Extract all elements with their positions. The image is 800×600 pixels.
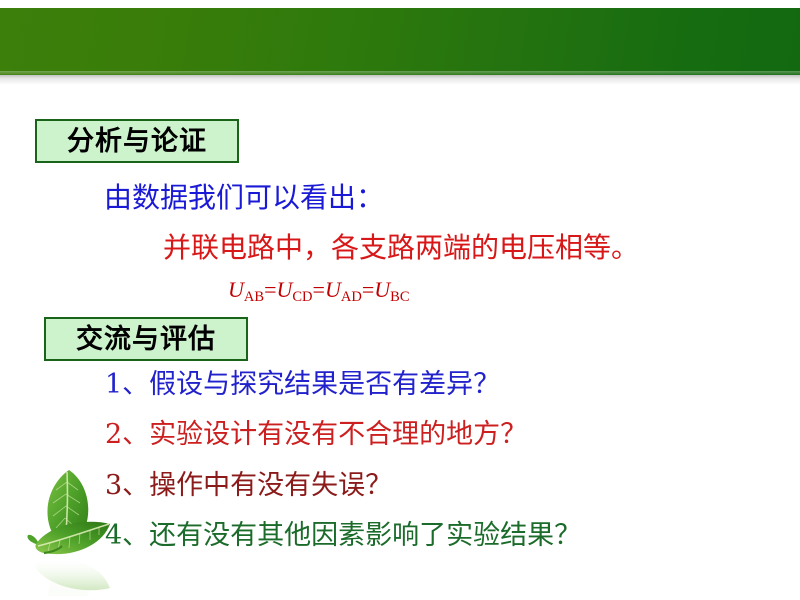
formula-operator-1: = <box>264 277 276 302</box>
formula-subscript-1: AB <box>244 289 264 305</box>
section-label-analysis: 分析与论证 <box>35 119 239 163</box>
question-item-3: 3、操作中有没有失误？ <box>105 472 392 499</box>
formula-operator-2: = <box>313 277 325 302</box>
voltage-equality-formula: UAB=UCD=UAD=UBC <box>228 279 410 301</box>
section-label-analysis-text: 分析与论证 <box>67 128 207 155</box>
formula-subscript-4: BC <box>390 289 409 305</box>
observation-lead-in-text: 由数据我们可以看出： <box>104 184 384 212</box>
question-item-2: 2、实验设计有没有不合理的地方？ <box>105 421 527 448</box>
conclusion-text: 并联电路中，各支路两端的电压相等。 <box>163 234 639 262</box>
section-label-discussion: 交流与评估 <box>44 317 248 361</box>
green-leaves-icon <box>14 458 136 596</box>
formula-subscript-3: AD <box>341 289 362 305</box>
formula-symbol-1: U <box>228 277 244 302</box>
formula-symbol-3: U <box>325 277 341 302</box>
section-label-discussion-text: 交流与评估 <box>76 326 216 353</box>
header-banner-shadow <box>0 75 800 85</box>
formula-symbol-4: U <box>374 277 390 302</box>
question-item-1: 1、假设与探究结果是否有差异？ <box>105 371 500 398</box>
formula-subscript-2: CD <box>292 289 312 305</box>
formula-operator-3: = <box>362 277 374 302</box>
formula-symbol-2: U <box>276 277 292 302</box>
header-banner <box>0 8 800 75</box>
slide-canvas: 分析与论证 由数据我们可以看出： 并联电路中，各支路两端的电压相等。 UAB=U… <box>0 0 800 600</box>
question-item-4: 4、还有没有其他因素影响了实验结果？ <box>105 522 581 549</box>
